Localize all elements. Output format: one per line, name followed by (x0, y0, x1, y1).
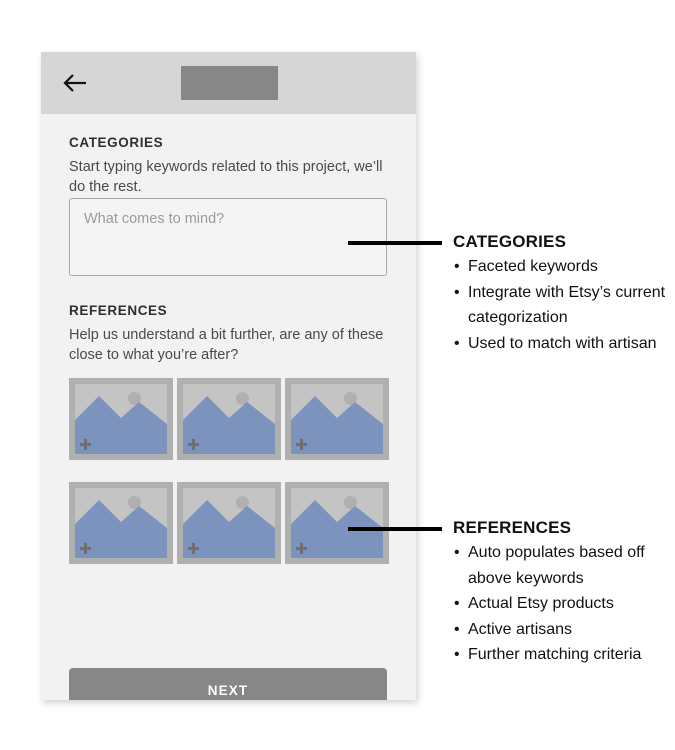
annotation-categories-title: CATEGORIES (453, 232, 675, 252)
list-item: Faceted keywords (453, 254, 675, 280)
list-item: Further matching criteria (453, 642, 675, 668)
add-icon[interactable] (188, 439, 199, 450)
app-header-bar (41, 52, 416, 114)
categories-section-label: CATEGORIES (69, 135, 163, 150)
list-item: Auto populates based off above keywords (453, 540, 675, 591)
list-item: Actual Etsy products (453, 591, 675, 617)
references-section-description: Help us understand a bit further, are an… (69, 325, 389, 365)
categories-section-description: Start typing keywords related to this pr… (69, 157, 389, 197)
reference-thumbnail-2[interactable] (177, 378, 281, 460)
reference-thumbnail-5[interactable] (177, 482, 281, 564)
add-icon[interactable] (296, 439, 307, 450)
list-item: Used to match with artisan (453, 331, 675, 357)
image-placeholder-icon (75, 384, 167, 454)
annotation-categories: CATEGORIES Faceted keywords Integrate wi… (453, 232, 675, 356)
back-arrow-icon[interactable] (63, 72, 89, 94)
add-icon[interactable] (80, 439, 91, 450)
keywords-input[interactable] (69, 198, 387, 276)
list-item: Active artisans (453, 617, 675, 643)
annotation-references-list: Auto populates based off above keywords … (453, 540, 675, 668)
image-placeholder-icon (183, 488, 275, 558)
next-button[interactable]: NEXT (69, 668, 387, 700)
image-placeholder-icon (291, 384, 383, 454)
image-placeholder-icon (183, 384, 275, 454)
reference-thumbnail-grid (69, 378, 389, 564)
image-placeholder-icon (291, 488, 383, 558)
reference-thumbnail-6[interactable] (285, 482, 389, 564)
list-item: Integrate with Etsy’s current categoriza… (453, 280, 675, 331)
reference-thumbnail-3[interactable] (285, 378, 389, 460)
add-icon[interactable] (188, 543, 199, 554)
references-section-label: REFERENCES (69, 303, 167, 318)
phone-mockup: CATEGORIES Start typing keywords related… (41, 52, 416, 700)
reference-thumbnail-4[interactable] (69, 482, 173, 564)
leader-line-references (348, 527, 442, 531)
image-placeholder-icon (75, 488, 167, 558)
app-body: CATEGORIES Start typing keywords related… (41, 114, 416, 700)
add-icon[interactable] (296, 543, 307, 554)
annotation-references: REFERENCES Auto populates based off abov… (453, 518, 675, 668)
reference-thumbnail-1[interactable] (69, 378, 173, 460)
header-title-placeholder (181, 66, 278, 100)
leader-line-categories (348, 241, 442, 245)
annotation-categories-list: Faceted keywords Integrate with Etsy’s c… (453, 254, 675, 356)
add-icon[interactable] (80, 543, 91, 554)
annotation-references-title: REFERENCES (453, 518, 675, 538)
